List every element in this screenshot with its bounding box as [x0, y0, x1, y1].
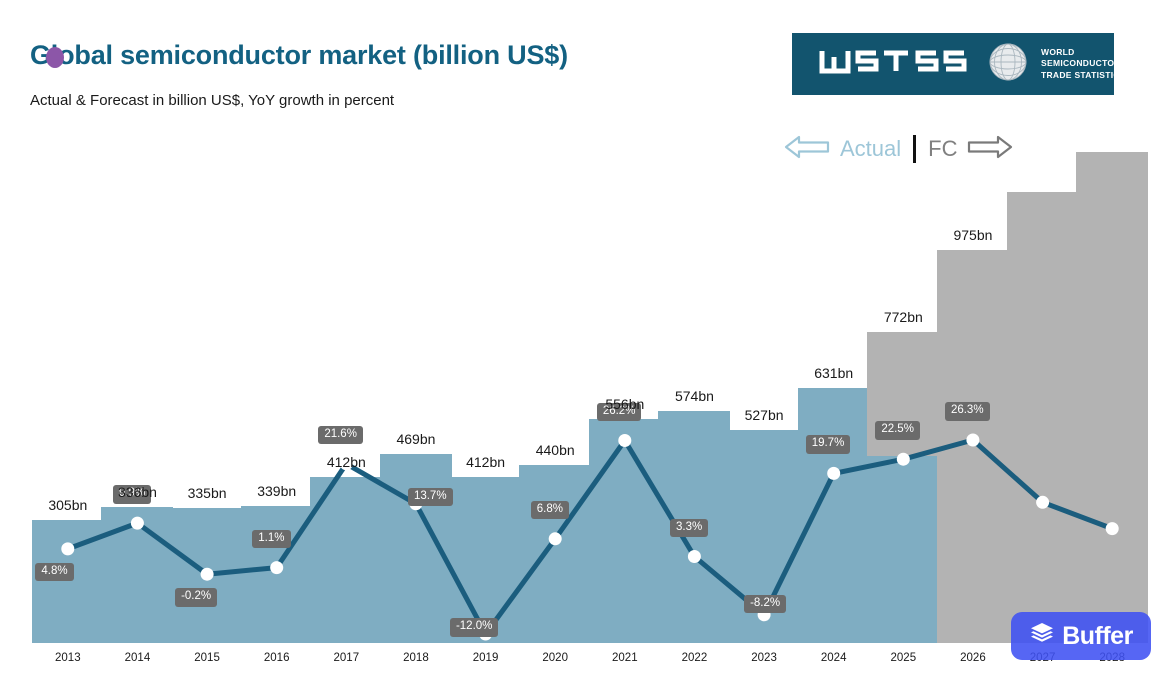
- bar-2027[interactable]: [1007, 192, 1079, 643]
- bar-value-label-2023: 527bn: [704, 407, 824, 423]
- bar-2014[interactable]: [101, 507, 173, 643]
- bar-2028[interactable]: [1076, 152, 1148, 643]
- bar-value-label-2018: 469bn: [356, 431, 476, 447]
- bar-2017[interactable]: [310, 477, 382, 643]
- bar-value-label-2020: 440bn: [495, 442, 615, 458]
- buffer-label: Buffer: [1062, 622, 1133, 651]
- growth-badge-2016: 1.1%: [252, 530, 290, 549]
- bar-value-label-2024: 631bn: [774, 365, 894, 381]
- bar-value-label-2026: 975bn: [913, 227, 1033, 243]
- growth-badge-2018: 13.7%: [408, 488, 453, 507]
- bar-2013[interactable]: [32, 520, 104, 643]
- bar-2018[interactable]: [380, 454, 452, 643]
- buffer-watermark[interactable]: Buffer: [1011, 612, 1151, 660]
- chart-plot-area: 4.8%9.9%-0.2%1.1%21.6%13.7%-12.0%6.8%26.…: [0, 0, 1162, 694]
- growth-badge-2019: -12.0%: [450, 618, 498, 637]
- growth-badge-2026: 26.3%: [945, 402, 990, 421]
- growth-badge-2020: 6.8%: [531, 501, 569, 520]
- bar-2016[interactable]: [241, 506, 313, 643]
- growth-badge-2013: 4.8%: [35, 563, 73, 582]
- bar-value-label-2016: 339bn: [217, 483, 337, 499]
- bar-value-label-2025: 772bn: [843, 309, 963, 325]
- growth-badge-2024: 19.7%: [806, 435, 851, 454]
- bar-2015[interactable]: [171, 508, 243, 643]
- growth-badge-2023: -8.2%: [744, 595, 786, 614]
- growth-badge-2022: 3.3%: [670, 519, 708, 538]
- bar-2024[interactable]: [798, 388, 870, 643]
- bar-2020[interactable]: [519, 465, 591, 643]
- bar-value-label-2017: 412bn: [286, 454, 406, 470]
- growth-badge-2015: -0.2%: [175, 588, 217, 607]
- bar-value-label-2022: 574bn: [634, 388, 754, 404]
- buffer-layers-icon: [1029, 621, 1055, 652]
- bar-2025-actual-segment[interactable]: [867, 456, 939, 643]
- growth-badge-2025: 22.5%: [875, 421, 920, 440]
